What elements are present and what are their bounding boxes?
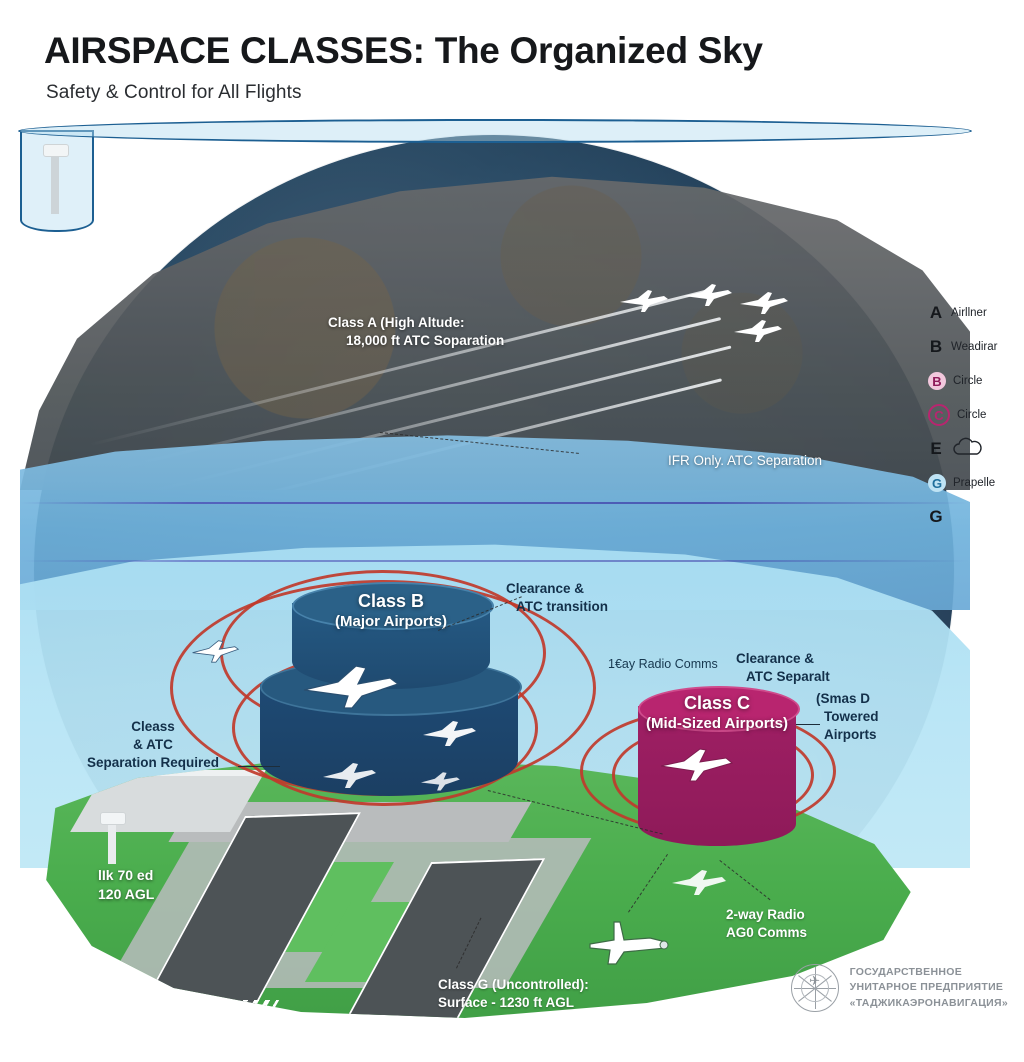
organization-logo: ✈ ГОСУДАРСТВЕННОЕ УНИТАРНОЕ ПРЕДПРИЯТИЕ … bbox=[791, 964, 1008, 1012]
infographic-root: AIRSPACE CLASSES: The Organized Sky Safe… bbox=[0, 0, 1024, 1024]
class-d-note-line-3: Airports bbox=[816, 726, 879, 744]
legend-key: B bbox=[928, 337, 944, 357]
legend-label: Airllner bbox=[951, 307, 987, 319]
legend-item-g[interactable]: G bbox=[928, 504, 1018, 530]
two-way-radio-annotation: 2-way Radio AG0 Comms bbox=[726, 906, 807, 942]
class-a-label: Class A (High Altude: 18,000 ft ATC Sopa… bbox=[328, 314, 504, 350]
left-clearance-annotation: Cleass & ATC Separation Required bbox=[58, 718, 248, 773]
class-a-line-1: Class A (High Altude: bbox=[328, 314, 504, 332]
legend-key: E bbox=[928, 439, 944, 459]
class-b-label: Class B (Major Airports) bbox=[292, 590, 490, 631]
airspace-scene: Class A (High Altude: 18,000 ft ATC Sopa… bbox=[20, 130, 970, 1010]
airliner-icon bbox=[320, 760, 378, 790]
tower-altitude-note: lIk 70 ed 120 AGL bbox=[98, 866, 154, 904]
leader-line bbox=[238, 766, 280, 767]
right-clearance-annotation: Clearance & ATC Separalt bbox=[736, 650, 830, 686]
radio-comms-annotation: 1€ay Radio Comms bbox=[608, 656, 718, 673]
right-clearance-line-1: Clearance & bbox=[736, 650, 830, 668]
class-c-title: Class C bbox=[628, 692, 806, 715]
legend-item-a[interactable]: A Airllner bbox=[928, 300, 1018, 326]
airliner-icon bbox=[418, 770, 462, 792]
legend-item-g-prop[interactable]: G Prapelle bbox=[928, 470, 1018, 496]
ifr-label: IFR Only. ATC Separation bbox=[668, 452, 822, 470]
airliner-icon bbox=[738, 290, 790, 316]
legend-item-b-circle[interactable]: B Circle bbox=[928, 368, 1018, 394]
class-d-note-line-1: (Smas D bbox=[816, 690, 879, 708]
class-b-title: Class B bbox=[292, 590, 490, 613]
airliner-icon bbox=[618, 288, 670, 314]
legend-item-c-circle[interactable]: C Circle bbox=[928, 402, 1018, 428]
propeller-plane-icon bbox=[668, 866, 728, 896]
logo-line-2: УНИТАРНОЕ ПРЕДПРИЯТИЕ bbox=[850, 980, 1008, 995]
class-d-cylinder bbox=[20, 130, 94, 232]
airliner-icon bbox=[682, 282, 734, 308]
legend: A Airllner B Weadirar B Circle C Circle … bbox=[928, 300, 1018, 538]
cloud-icon bbox=[951, 437, 985, 462]
legend-item-b-weather[interactable]: B Weadirar bbox=[928, 334, 1018, 360]
tower-note-line-2: 120 AGL bbox=[98, 885, 154, 904]
legend-key: A bbox=[928, 303, 944, 323]
airliner-icon bbox=[298, 660, 402, 712]
legend-item-e-cloud[interactable]: E bbox=[928, 436, 1018, 462]
transition-line-2: ATC transition bbox=[506, 598, 608, 616]
class-c-label: Class C (Mid-Sized Airports) bbox=[628, 692, 806, 733]
control-tower-mast bbox=[108, 820, 116, 864]
runway-threshold bbox=[379, 1034, 469, 1052]
airliner-icon bbox=[190, 638, 240, 664]
class-d-note-line-2: Towered bbox=[816, 708, 879, 726]
propeller-plane-icon bbox=[656, 744, 736, 784]
transition-annotation: Clearance & ATC transition bbox=[506, 580, 608, 616]
left-clearance-line-1: Cleass bbox=[58, 718, 248, 736]
layer-divider bbox=[20, 560, 970, 562]
page-title: AIRSPACE CLASSES: The Organized Sky bbox=[44, 30, 763, 72]
logo-line-1: ГОСУДАРСТВЕННОЕ bbox=[850, 965, 1008, 980]
class-a-line-2: 18,000 ft ATC Soparation bbox=[328, 332, 504, 350]
control-tower-cab bbox=[43, 144, 69, 157]
class-g-line-1: Class G (Uncontrolled): bbox=[438, 976, 589, 994]
organization-name: ГОСУДАРСТВЕННОЕ УНИТАРНОЕ ПРЕДПРИЯТИЕ «Т… bbox=[850, 965, 1008, 1011]
two-way-radio-line-1: 2-way Radio bbox=[726, 906, 807, 924]
control-tower-mast bbox=[51, 152, 59, 214]
layer-divider bbox=[20, 502, 970, 504]
tower-note-line-1: lIk 70 ed bbox=[98, 866, 154, 885]
left-clearance-line-2: & ATC bbox=[58, 736, 248, 754]
airliner-icon bbox=[732, 318, 784, 344]
right-clearance-line-2: ATC Separalt bbox=[736, 668, 830, 686]
airliner-icon bbox=[420, 718, 478, 748]
legend-label: Weadirar bbox=[951, 341, 997, 353]
two-way-radio-line-2: AG0 Comms bbox=[726, 924, 807, 942]
class-g-label: Class G (Uncontrolled): Surface - 1230 f… bbox=[438, 976, 589, 1012]
legend-label: Circle bbox=[957, 409, 986, 421]
legend-key-badge: C bbox=[928, 404, 950, 426]
propeller-plane-icon bbox=[580, 910, 676, 968]
header: AIRSPACE CLASSES: The Organized Sky Safe… bbox=[44, 30, 763, 104]
class-c-subtitle: (Mid-Sized Airports) bbox=[628, 715, 806, 734]
leader-line bbox=[796, 724, 820, 725]
class-d-cylinder-top bbox=[18, 119, 972, 143]
compass-rose-icon: ✈ bbox=[791, 964, 839, 1012]
class-d-annotation: (Smas D Towered Airports bbox=[816, 690, 879, 745]
legend-key: G bbox=[928, 507, 944, 527]
class-a-layer bbox=[20, 130, 970, 490]
legend-label: Circle bbox=[953, 375, 982, 387]
legend-label: Prapelle bbox=[953, 477, 995, 489]
class-g-line-2: Surface - 1230 ft AGL bbox=[438, 994, 589, 1012]
legend-key-badge: G bbox=[928, 474, 946, 492]
control-tower-cab bbox=[100, 812, 126, 825]
logo-line-3: «ТАДЖИКАЭРОНАВИГАЦИЯ» bbox=[850, 996, 1008, 1011]
left-clearance-line-3: Separation Required bbox=[58, 754, 248, 772]
page-subtitle: Safety & Control for All Flights bbox=[46, 82, 763, 104]
legend-key-badge: B bbox=[928, 372, 946, 390]
runway-threshold bbox=[189, 1000, 279, 1018]
